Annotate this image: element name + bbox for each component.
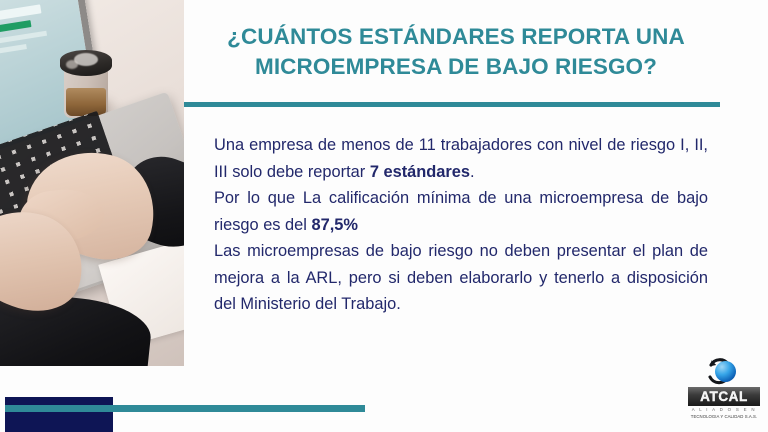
title-line-1: ¿CUÁNTOS ESTÁNDARES REPORTA UNA: [200, 22, 712, 52]
page-title: ¿CUÁNTOS ESTÁNDARES REPORTA UNA MICROEMP…: [200, 22, 712, 81]
logo-wordmark-text: ATCAL: [700, 389, 748, 404]
body-paragraph-3: Las microempresas de bajo riesgo no debe…: [214, 238, 708, 318]
logo-wordmark: ATCAL: [688, 387, 760, 406]
paragraph-1-bold: 7 estándares: [370, 163, 470, 181]
slide-canvas: ¿CUÁNTOS ESTÁNDARES REPORTA UNA MICROEMP…: [0, 0, 768, 432]
title-divider-rule: [184, 102, 720, 107]
footer-navy-block: [5, 397, 113, 432]
sphere-refresh-icon: [698, 356, 742, 390]
coffee-cup: [60, 36, 112, 118]
laptop-photo: [0, 0, 184, 366]
logo-tagline-2: TECNOLOGIA Y CALIDAD S.A.S.: [688, 414, 760, 419]
paragraph-2-bold: 87,5%: [312, 216, 358, 234]
body-paragraph-1: Una empresa de menos de 11 trabajadores …: [214, 132, 708, 185]
body-paragraph-2: Por lo que La calificación mínima de una…: [214, 185, 708, 238]
footer-teal-bar: [5, 405, 365, 412]
cup-lid-highlight-2: [66, 60, 78, 69]
paragraph-2-text-a: Por lo que La calificación mínima de una…: [214, 189, 708, 234]
atcal-logo: ATCAL A L I A D O S E N TECNOLOGIA Y CAL…: [686, 356, 762, 428]
cup-coffee: [66, 88, 106, 116]
logo-tagline-1: A L I A D O S E N: [688, 407, 760, 412]
screen-ui-bar-4: [0, 44, 27, 57]
blue-sphere-icon: [715, 361, 736, 382]
title-line-2: MICROEMPRESA DE BAJO RIESGO?: [200, 52, 712, 82]
body-text-block: Una empresa de menos de 11 trabajadores …: [214, 132, 708, 318]
paragraph-1-text-b: .: [470, 163, 475, 181]
